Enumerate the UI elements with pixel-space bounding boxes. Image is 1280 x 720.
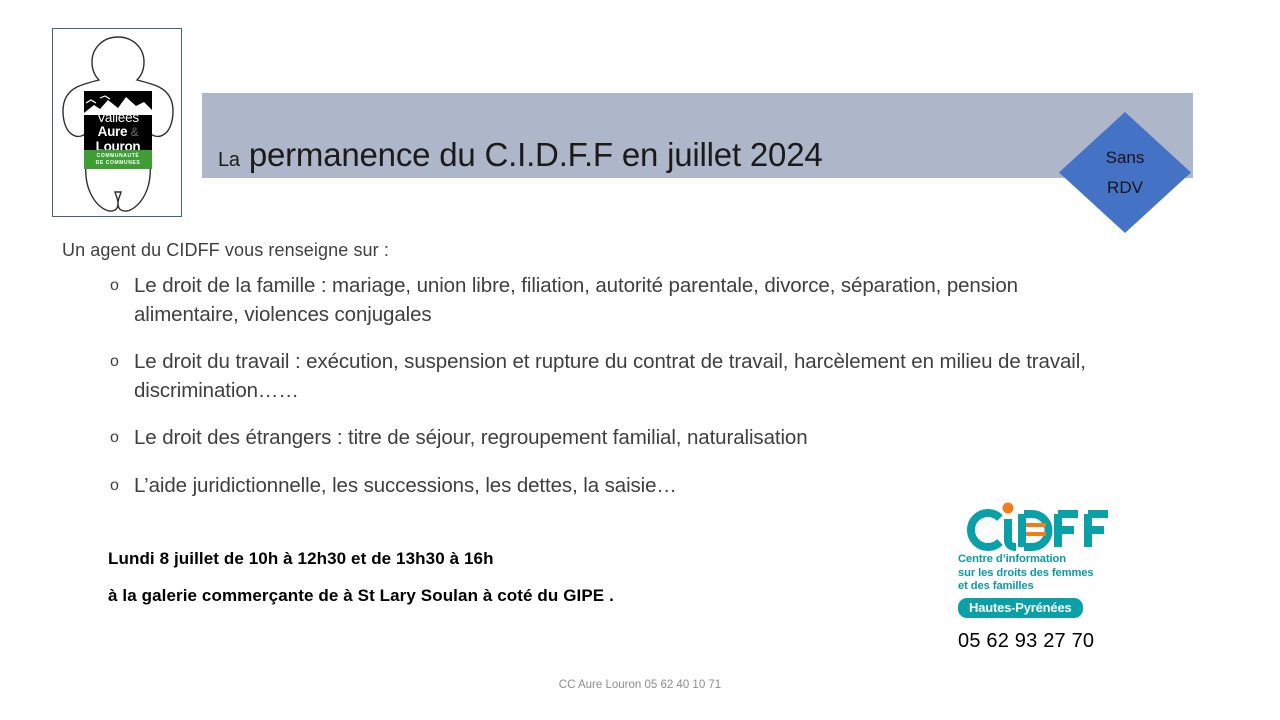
list-item: o Le droit des étrangers : titre de séjo… (110, 424, 1110, 453)
cc-logo-vallees: Vallées (84, 111, 152, 125)
cc-logo-wordmark: Vallées Aure & Louron (84, 111, 152, 154)
bullet-marker-icon: o (110, 472, 134, 500)
cc-logo-sub-line1: COMMUNAUTÉ (97, 153, 140, 159)
sans-rdv-line2: RDV (1057, 173, 1193, 203)
bullet-marker-icon: o (110, 424, 134, 452)
cidff-subtitle-line3: et des familles (958, 580, 1133, 594)
list-item-text: L’aide juridictionnelle, les successions… (134, 472, 677, 501)
intro-text: Un agent du CIDFF vous renseigne sur : (62, 240, 389, 261)
cc-logo-sub-line2: DE COMMUNES (96, 160, 141, 166)
cidff-subtitle-line2: sur les droits des femmes (958, 567, 1133, 581)
footer-contact: CC Aure Louron 05 62 40 10 71 (0, 679, 1280, 691)
list-item: o Le droit de la famille : mariage, unio… (110, 272, 1110, 329)
sans-rdv-line1: Sans (1057, 143, 1193, 173)
cc-logo-badge: Vallées Aure & Louron COMMUNAUTÉ DE COMM… (84, 91, 152, 169)
services-list: o Le droit de la famille : mariage, unio… (110, 272, 1110, 519)
schedule-date-time: Lundi 8 juillet de 10h à 12h30 et de 13h… (108, 540, 614, 577)
cidff-subtitle: Centre d’information sur les droits des … (958, 553, 1133, 594)
cidff-letters-icon (958, 502, 1133, 552)
cc-logo-ampersand: & (131, 125, 139, 139)
list-item-text: Le droit des étrangers : titre de séjour… (134, 424, 808, 453)
page-title: La permanence du C.I.D.F.F en juillet 20… (218, 136, 823, 174)
page-title-prefix: La (218, 149, 240, 171)
bullet-marker-icon: o (110, 272, 134, 300)
cc-aure-louron-logo: Vallées Aure & Louron COMMUNAUTÉ DE COMM… (52, 28, 182, 217)
cc-logo-aure: Aure & (84, 125, 152, 140)
page-title-main: permanence du C.I.D.F.F en juillet 2024 (249, 136, 823, 173)
list-item-text: Le droit de la famille : mariage, union … (134, 272, 1110, 329)
schedule-block: Lundi 8 juillet de 10h à 12h30 et de 13h… (108, 540, 614, 614)
cidff-logo: Centre d’information sur les droits des … (958, 502, 1133, 618)
cidff-subtitle-line1: Centre d’information (958, 553, 1133, 567)
cidff-department-badge: Hautes-Pyrénées (958, 598, 1083, 618)
list-item: o Le droit du travail : exécution, suspe… (110, 348, 1110, 405)
list-item: o L’aide juridictionnelle, les successio… (110, 472, 1110, 501)
list-item-text: Le droit du travail : exécution, suspens… (134, 348, 1110, 405)
cidff-wordmark (958, 502, 1133, 552)
cc-logo-subtitle: COMMUNAUTÉ DE COMMUNES (84, 150, 152, 169)
sans-rdv-badge: Sans RDV (1057, 110, 1193, 235)
sans-rdv-label: Sans RDV (1057, 143, 1193, 203)
title-band: La permanence du C.I.D.F.F en juillet 20… (202, 93, 1193, 178)
bullet-marker-icon: o (110, 348, 134, 376)
schedule-location: à la galerie commerçante de à St Lary So… (108, 577, 614, 614)
cidff-phone-number: 05 62 93 27 70 (958, 630, 1094, 653)
